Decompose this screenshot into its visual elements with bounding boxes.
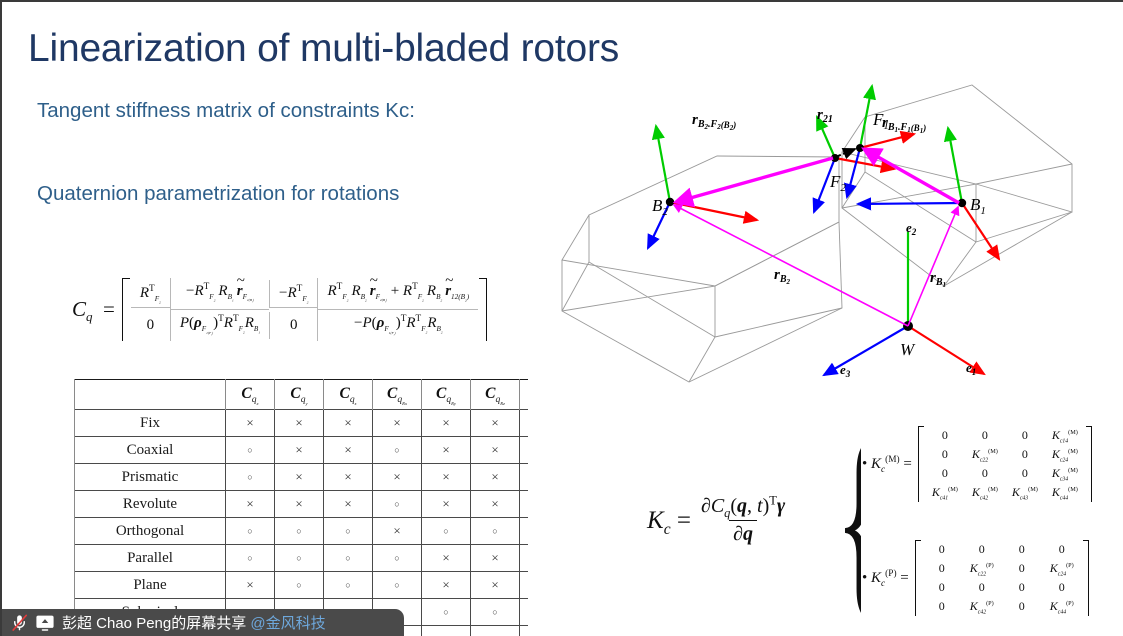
constraint-cell: × [422,410,471,437]
bracket-left-icon [915,540,922,616]
label-b1: B1 [970,195,986,217]
k-matrix-cell: 0 [1005,464,1045,483]
constraint-cell: ○ [275,518,324,545]
kc-denominator: ∂q [729,520,757,546]
constraint-name: Parallel [75,545,226,572]
row-edge [520,491,529,518]
k-matrix-cell: 0 [1042,578,1082,597]
constraint-cell: × [471,464,520,491]
k-matrix-cell: 0 [925,464,965,483]
constraint-cell: × [275,437,324,464]
constraint-cell: × [422,545,471,572]
table-row: Coaxial○××○×× [75,437,529,464]
constraint-cell: × [422,491,471,518]
bracket-left-icon [122,278,131,341]
constraint-cell: × [275,410,324,437]
table-row: Revolute×××○×× [75,491,529,518]
k-matrix-cell: 0 [965,426,1005,445]
constraint-cell: × [373,464,422,491]
k-matrix-cell: Kc24(M) [1045,445,1085,464]
label-e3: e3 [840,362,851,379]
cq-cell-r2c3: 0 [269,312,317,339]
label-f2: F2 [829,172,846,194]
k-matrix-cell: 0 [1042,540,1082,559]
table-row: Prismatic○××××× [75,464,529,491]
page-title: Linearization of multi-bladed rotors [28,26,619,72]
cq-cell-r1c3: −RTF2 [269,280,317,308]
row-edge [520,545,529,572]
constraint-cell: ○ [324,572,373,599]
label-r-b2: rB2 [774,267,791,286]
f2-frame-axes [814,117,894,212]
row-edge [520,437,529,464]
kc-equation: Kc = ∂Cq(q, t)Tγ ∂q [647,495,795,546]
constraint-cell: ○ [324,518,373,545]
row-edge [520,518,529,545]
constraint-cell: ○ [373,437,422,464]
kc-matrix-m-grid: 000Kc14(M)0Kc22(M)0Kc24(M)000Kc34(M)Kc41… [925,426,1085,502]
constraint-cell: ○ [422,626,471,636]
share-host-text: @金风科技 [250,615,325,632]
constraint-name: Fix [75,410,226,437]
kc-matrix-p: • Kc(P) = 00000Kc22(P)0Kc24(P)00000Kc42(… [862,540,1089,616]
k-matrix-cell: 0 [922,597,962,616]
constraints-table: Cqx Cqy Cqz CqRx CqRy CqRz [74,379,528,636]
row-edge [520,572,529,599]
curly-brace-icon: { [835,420,861,620]
presentation-slide: Linearization of multi-bladed rotors Tan… [0,0,1123,636]
zoom-share-bar: 彭超 Chao Peng的屏幕共享 @金风科技 [2,609,404,636]
table-row: Parallel○○○○×× [75,545,529,572]
screen-share-icon[interactable] [35,614,55,632]
header-cqx: Cqx [226,380,275,410]
header-blank [75,380,226,410]
bracket-left-icon [918,426,925,502]
label-w: W [900,340,916,359]
constraint-cell: ○ [324,545,373,572]
bracket-right-icon [478,278,487,341]
k-matrix-cell: Kc41(M) [925,483,965,502]
constraint-cell: × [471,410,520,437]
constraint-cell: ○ [422,599,471,626]
k-matrix-cell: 0 [1002,578,1042,597]
cq-cell-r2c1: 0 [131,312,170,339]
cq-matrix-equation: Cq = RTF2 −RTF2 RB1 ~rF1(B1) −RTF2 RTF2 … [72,278,487,341]
header-cqrx: CqRx [373,380,422,410]
bullet-quaternion: Quaternion parametrization for rotations [37,182,399,206]
header-cqy: Cqy [275,380,324,410]
constraint-cell: × [324,491,373,518]
constraint-cell: × [471,437,520,464]
kc-matrix-p-grid: 00000Kc22(P)0Kc24(P)00000Kc42(P)0Kc44(P) [922,540,1082,616]
constraint-cell: × [422,437,471,464]
constraint-cell: × [226,410,275,437]
constraint-name: Prismatic [75,464,226,491]
constraint-cell: ○ [373,491,422,518]
cq-cell-r2c2: P(ρF1(F2))TRTF2RB1 [170,310,269,341]
label-r-b2f2: rB2.F2(B2) [692,112,736,132]
constraint-cell: ○ [422,518,471,545]
k-matrix-cell: 0 [1002,540,1042,559]
b1-frame-axes [858,128,999,259]
constraint-cell: × [275,491,324,518]
constraint-cell: × [324,437,373,464]
constraint-cell: × [324,464,373,491]
constraint-cell: × [226,572,275,599]
header-cqz: Cqz [324,380,373,410]
constraint-name: Orthogonal [75,518,226,545]
cq-matrix-grid: RTF2 −RTF2 RB1 ~rF1(B1) −RTF2 RTF2 RB2 ~… [131,278,478,341]
k-matrix-cell: 0 [922,540,962,559]
kc-matrix-m: • Kc(M) = 000Kc14(M)0Kc22(M)0Kc24(M)000K… [862,426,1092,502]
constraint-cell: ○ [471,599,520,626]
row-edge [520,599,529,626]
constraint-cell: × [422,572,471,599]
row-edge [520,410,529,437]
k-matrix-cell: Kc24(P) [1042,559,1082,578]
table-header: Cqx Cqy Cqz CqRx CqRy CqRz [75,380,529,410]
kc-numerator: ∂Cq(q, t)Tγ [697,495,789,520]
constraint-cell: ○ [471,626,520,636]
k-matrix-cell: 0 [922,578,962,597]
k-matrix-cell: Kc22(P) [962,559,1002,578]
label-r-b1: rB1 [930,270,946,289]
constraint-cell: ○ [226,518,275,545]
row-edge [520,626,529,636]
k-matrix-cell: Kc44(P) [1042,597,1082,616]
constraint-cell: × [422,464,471,491]
k-matrix-cell: Kc44(M) [1045,483,1085,502]
cq-lhs: Cq = [72,297,115,322]
constraint-cell: ○ [373,572,422,599]
bracket-right-icon [1085,426,1092,502]
k-matrix-cell: 0 [1002,597,1042,616]
header-edge [520,380,529,410]
k-matrix-cell: Kc43(M) [1005,483,1045,502]
constraint-name: Plane [75,572,226,599]
k-matrix-cell: 0 [1005,426,1045,445]
share-owner-text: 彭超 Chao Peng的屏幕共享 [62,615,250,632]
k-matrix-cell: 0 [925,426,965,445]
f1-frame-axes [847,86,914,197]
k-matrix-cell: Kc14(M) [1045,426,1085,445]
constraint-cell: × [471,572,520,599]
k-matrix-cell: 0 [965,464,1005,483]
constraint-cell: × [275,464,324,491]
label-e1: e1 [966,360,976,377]
k-matrix-cell: 0 [922,559,962,578]
kc-fraction: ∂Cq(q, t)Tγ ∂q [697,495,789,546]
k-matrix-cell: Kc42(P) [962,597,1002,616]
constraint-cell: × [373,410,422,437]
header-cqrz: CqRz [471,380,520,410]
constraint-cell: × [471,491,520,518]
bullet-tangent-stiffness: Tangent stiffness matrix of constraints … [37,99,415,123]
label-r21: r21 [817,107,833,125]
microphone-muted-icon[interactable] [10,613,29,632]
cq-cell-r1c2: −RTF2 RB1 ~rF1(B1) [170,278,269,310]
multibody-diagram: B2 B1 F2 F1 W r21 rB2.F2(B2) rB1.F1(B1) … [552,72,1123,402]
bracket-right-icon [1082,540,1089,616]
k-matrix-cell: 0 [1002,559,1042,578]
kc-matrix-m-label: • Kc(M) = [862,456,912,473]
k-matrix-cell: Kc42(M) [965,483,1005,502]
table-row: Orthogonal○○○×○○ [75,518,529,545]
row-edge [520,464,529,491]
constraint-cell: ○ [373,545,422,572]
constraint-cell: ○ [275,545,324,572]
b2-frame-axes [648,126,757,248]
constraint-cell: ○ [226,437,275,464]
constraint-cell: × [471,545,520,572]
body-b2-box [562,156,842,382]
k-matrix-cell: 0 [925,445,965,464]
table-row: Fix×××××× [75,410,529,437]
constraint-cell: ○ [226,464,275,491]
constraint-name: Revolute [75,491,226,518]
header-cqry: CqRy [422,380,471,410]
constraint-cell: × [226,491,275,518]
k-matrix-cell: 0 [962,578,1002,597]
constraint-cell: ○ [471,518,520,545]
table-row: Plane×○○○×× [75,572,529,599]
k-matrix-cell: 0 [1005,445,1045,464]
constraint-name: Coaxial [75,437,226,464]
label-b2: B2 [652,196,668,218]
cq-cell-r2c4: −P(ρF1(F2))TRTF2RB2 [317,310,478,341]
constraint-cell: ○ [275,572,324,599]
position-vectors [674,149,959,326]
constraint-cell: × [373,518,422,545]
label-e2: e2 [906,220,917,237]
k-matrix-cell: Kc34(M) [1045,464,1085,483]
k-matrix-cell: 0 [962,540,1002,559]
kc-lhs: Kc = [647,507,691,535]
table-header-row: Cqx Cqy Cqz CqRx CqRy CqRz [75,380,529,410]
cq-cell-r1c4: RTF2 RB2 ~rF2(B2) + RTF2 RB2 ~r12(B2) [317,278,478,310]
cq-cell-r1c1: RTF2 [131,280,170,308]
share-bar-label: 彭超 Chao Peng的屏幕共享 @金风科技 [62,612,326,633]
table-body: Fix××××××Coaxial○××○××Prismatic○×××××Rev… [75,410,529,636]
constraint-cell: ○ [226,545,275,572]
k-matrix-cell: Kc22(M) [965,445,1005,464]
label-r-b1f1: rB1.F1(B1) [882,115,926,135]
kc-matrix-p-label: • Kc(P) = [862,570,909,587]
constraint-cell: × [324,410,373,437]
